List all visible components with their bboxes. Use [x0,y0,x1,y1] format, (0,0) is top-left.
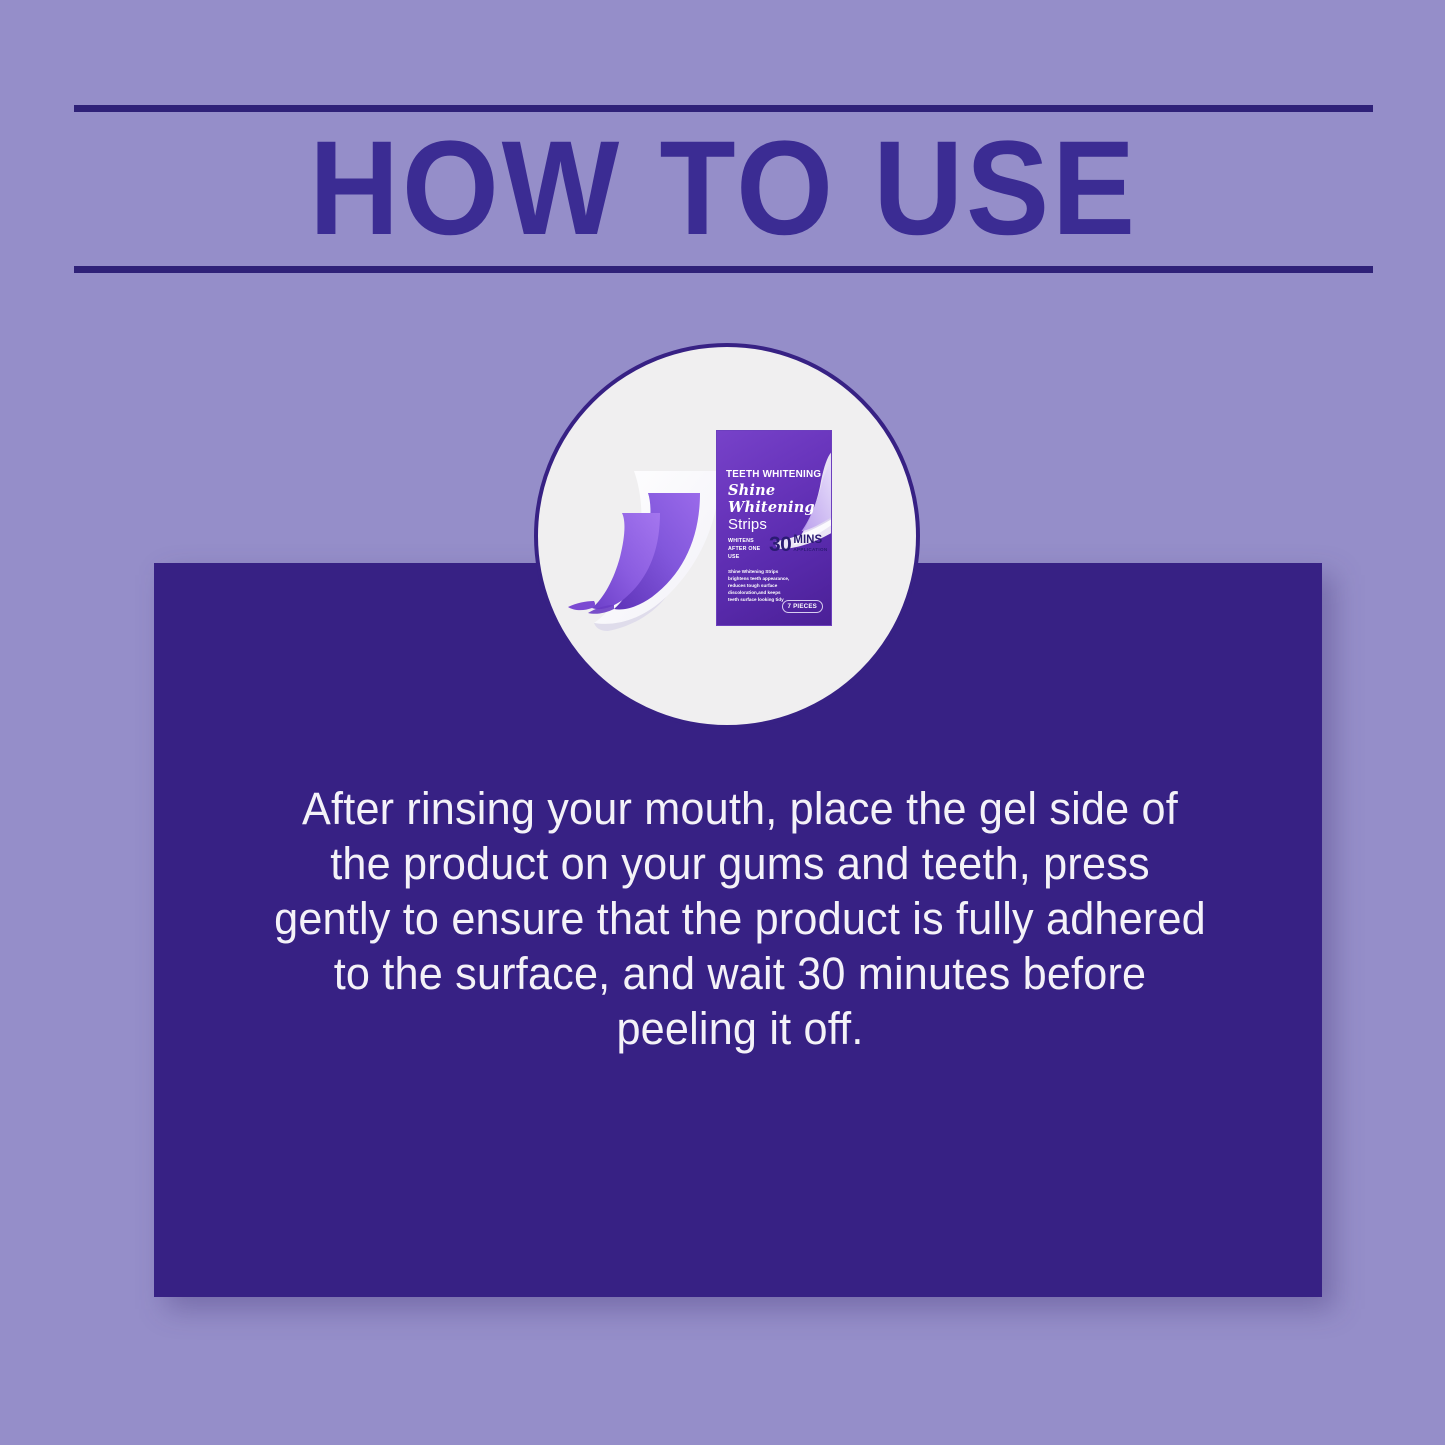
package-claim: WHITENS AFTER ONE USE [728,537,772,562]
page-title: HOW TO USE [119,110,1327,268]
package-duration-words: MINS APPLICATION [793,535,827,552]
title-rule-bottom [74,266,1373,273]
package-duration-unit: MINS [793,535,827,547]
package-brand: Shine Whitening [728,483,815,517]
product-package: TEETH WHITENING Shine Whitening Strips W… [716,430,832,626]
instructions-text: After rinsing your mouth, place the gel … [270,782,1211,1056]
package-duration-number: 30 [769,534,791,555]
product-medallion-inner: TEETH WHITENING Shine Whitening Strips W… [538,347,916,725]
whitening-strip-illustration [552,451,742,641]
package-brand-line-1: Shine [728,483,815,500]
package-description: Shine Whitening Strips brightens teeth a… [728,569,790,604]
package-duration-caption: APPLICATION [793,548,827,553]
product-medallion: TEETH WHITENING Shine Whitening Strips W… [534,343,920,729]
package-product-type: Strips [728,516,767,533]
package-duration-badge: 30 MINS APPLICATION [769,531,831,557]
package-count-badge: 7 PIECES [782,600,823,613]
package-category: TEETH WHITENING [726,469,822,480]
package-brand-line-2: Whitening [728,500,815,517]
how-to-use-infographic: HOW TO USE After rinsing your mouth, pla… [0,0,1445,1445]
header: HOW TO USE [74,100,1373,278]
